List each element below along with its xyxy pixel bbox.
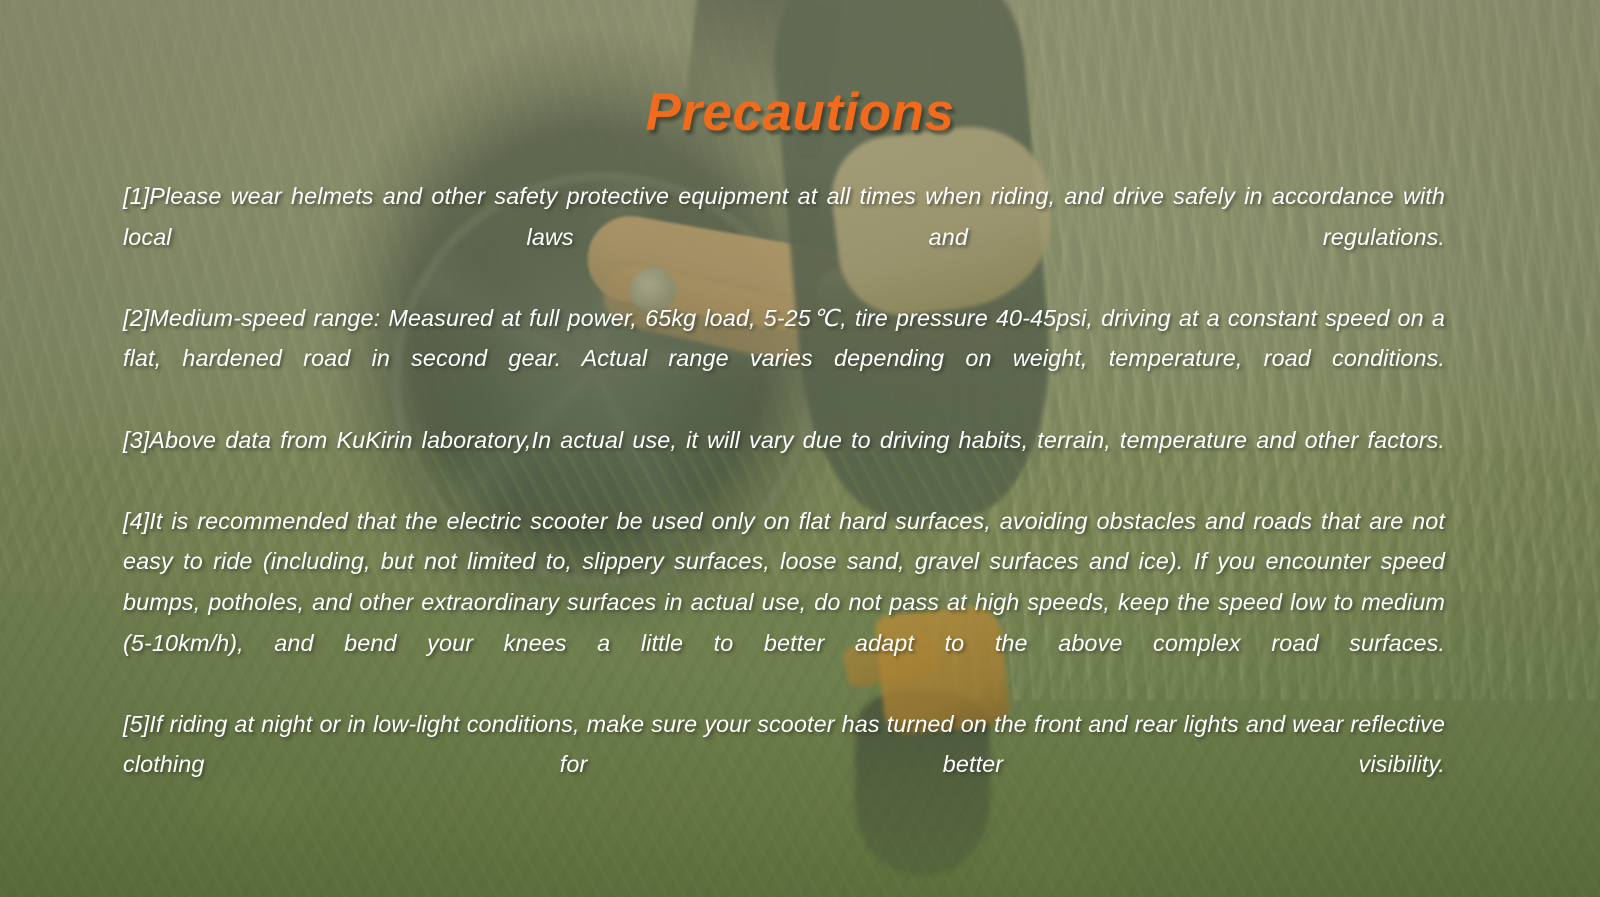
precaution-item-2: [2]Medium-speed range: Measured at full … [123, 298, 1445, 420]
precaution-item-1: [1]Please wear helmets and other safety … [123, 176, 1445, 298]
precaution-item-3: [3]Above data from KuKirin laboratory,In… [123, 420, 1445, 501]
slide-content: Precautions [1]Please wear helmets and o… [0, 0, 1600, 897]
page-title: Precautions [0, 82, 1600, 143]
precaution-item-4: [4]It is recommended that the electric s… [123, 501, 1445, 704]
precautions-slide: Precautions [1]Please wear helmets and o… [0, 0, 1600, 897]
precautions-list: [1]Please wear helmets and other safety … [123, 176, 1445, 826]
precaution-item-5: [5]If riding at night or in low-light co… [123, 704, 1445, 826]
